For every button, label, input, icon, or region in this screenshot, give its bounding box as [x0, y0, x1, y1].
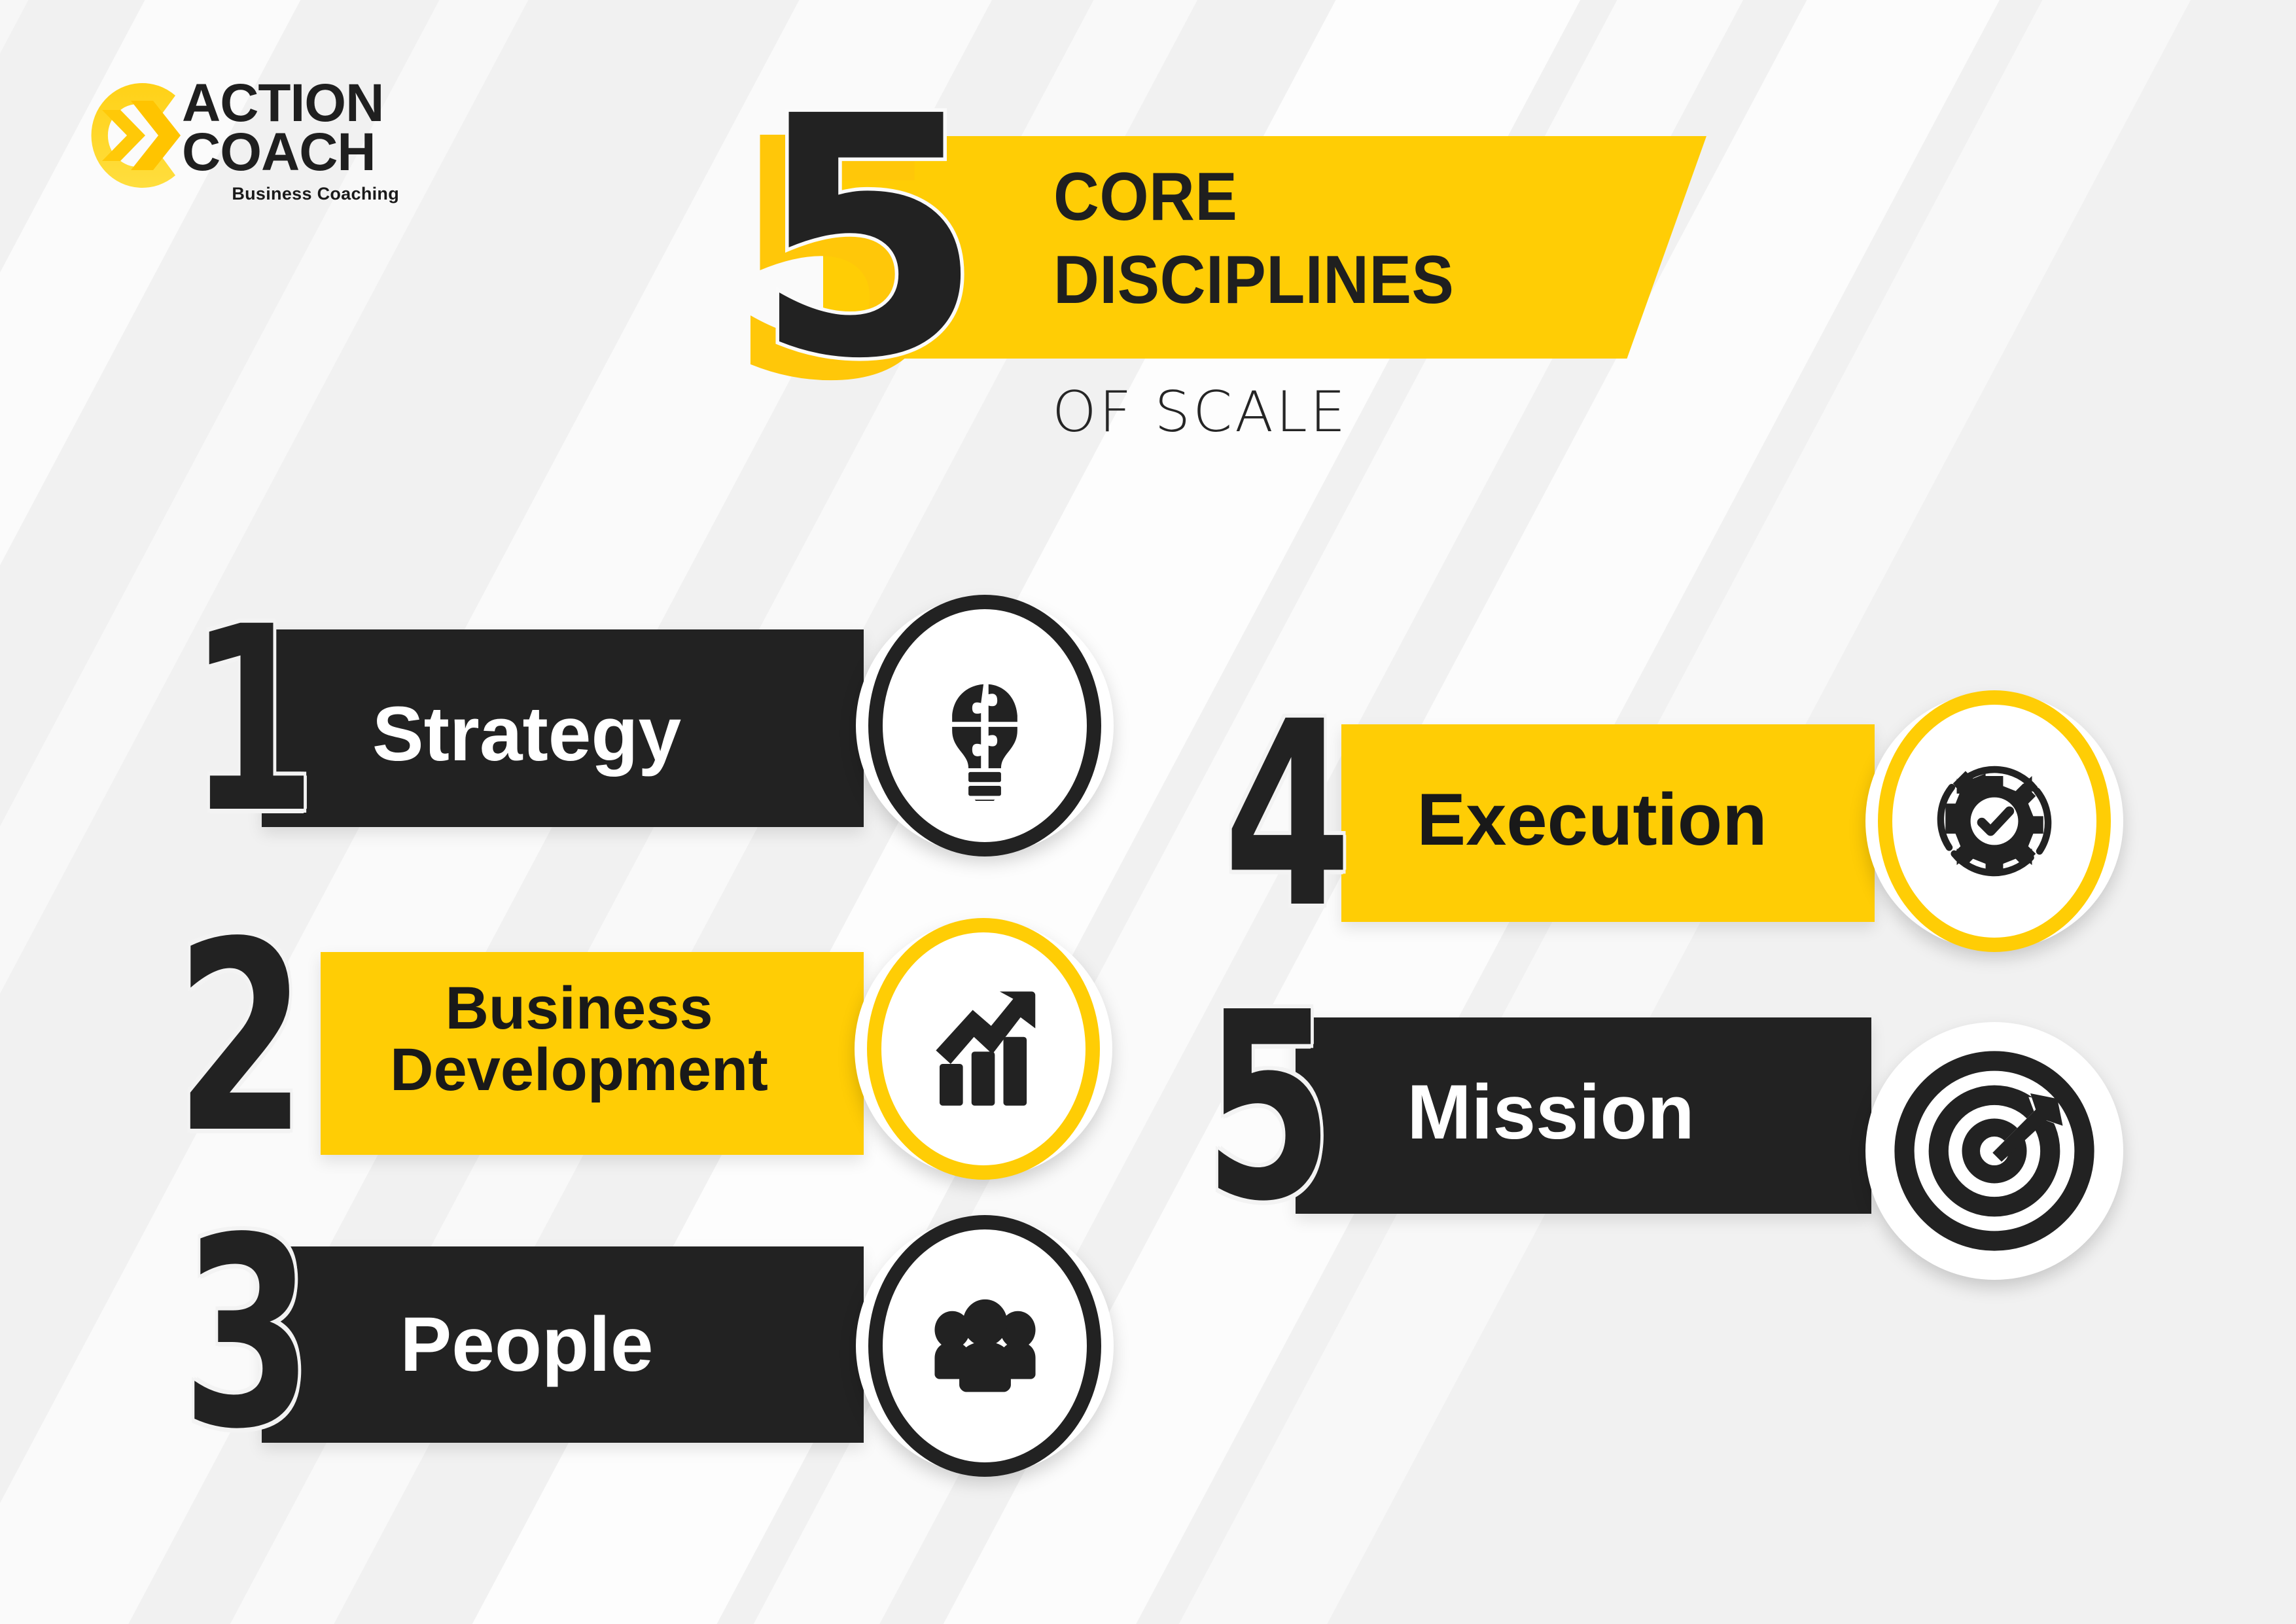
discipline-icon-circle	[1865, 1022, 2123, 1280]
discipline-label: Execution	[1347, 783, 1837, 857]
discipline-label: Business Development	[321, 978, 838, 1101]
big-number-5: 5	[754, 111, 974, 368]
headline-title: CORE DISCIPLINES	[1053, 156, 1454, 322]
discipline-label: People	[262, 1305, 792, 1384]
growth-chart-arrow-icon	[910, 976, 1057, 1123]
logo-wordmark: ACTION COACH Business Coaching	[182, 79, 399, 204]
discipline-label: Mission	[1302, 1073, 1799, 1152]
discipline-icon-circle	[1865, 692, 2123, 950]
logo-line-action: ACTION	[182, 79, 399, 128]
target-dart-icon	[1886, 1043, 2102, 1259]
headline-block: 5 5 CORE DISCIPLINES OF SCALE	[720, 118, 1701, 510]
discipline-icon-circle	[856, 597, 1114, 855]
discipline-icon-circle	[855, 920, 1112, 1178]
actioncoach-logo: ACTION COACH Business Coaching	[77, 68, 496, 219]
logo-line-coach: COACH	[182, 128, 399, 177]
discipline-number: 2	[175, 934, 306, 1144]
group-people-icon	[915, 1276, 1055, 1417]
discipline-icon-circle	[856, 1217, 1114, 1475]
gear-check-cycle-icon	[1919, 746, 2070, 896]
logo-tagline: Business Coaching	[182, 184, 399, 204]
discipline-number: 4	[1224, 713, 1351, 917]
discipline-label: Strategy	[262, 695, 792, 773]
lightbulb-puzzle-icon	[910, 650, 1060, 801]
headline-subtitle: OF SCALE	[1052, 380, 1348, 445]
